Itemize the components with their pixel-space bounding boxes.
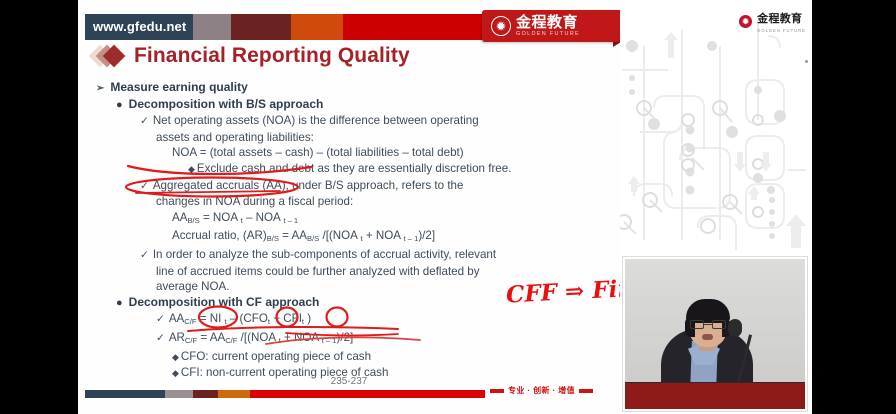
f-b: = AA [279,229,307,242]
brand-logo-banner: ✹ 金程教育 GOLDEN FUTURE [482,10,620,42]
line-cfo-definition: ◆CFO: current operating piece of cash [172,349,608,366]
f-c-sub: t – 1 [283,216,298,225]
f-e: )/2] [418,229,435,242]
line-text: average NOA. [156,280,229,293]
video-frame [625,259,805,409]
slogan-dash-right [579,389,593,393]
f-a: AA [169,312,184,325]
panel-brand-cn: 金程教育 [757,13,802,25]
lecturer-mouth [702,334,713,340]
f-e: ) [304,312,311,325]
f-d-sub: t – 1 [404,234,419,243]
f-e: )/2] [337,331,354,344]
dot-bullet-icon: ● [116,297,123,309]
line-noa-definition-2: assets and operating liabilities: [156,130,608,146]
footer-segment-gray [165,390,193,398]
line-text: CFO: current operating piece of cash [181,350,371,363]
circuit-pattern-icon [620,0,812,250]
slide-area: www.gfedu.net ✹ 金程教育 GOLDEN FUTURE Finan… [78,0,620,414]
decorative-circuit-background [620,0,812,250]
brand-name-en: GOLDEN FUTURE [516,32,580,38]
f-a-sub: B/S [267,234,279,243]
header-segment-gray [193,14,231,40]
header-segment-orange [291,14,343,40]
f-a: AR [169,331,185,344]
check-bullet-icon: ✓ [156,313,165,325]
line-text: Decomposition with B/S approach [129,97,324,111]
f-d: + NOA [281,331,322,344]
check-bullet-icon: ✓ [140,115,149,127]
dot-bullet-icon: ● [116,99,123,111]
line-text: changes in NOA during a fiscal period: [156,195,353,208]
line-text: line of accrued items could be further a… [156,265,480,278]
line-text: Measure earning quality [110,80,247,94]
f-a-sub: C/F [184,317,196,326]
line-exclude-cash-debt: ◆Exclude cash and debt as they are essen… [188,161,608,178]
footer-segment-maroon [193,390,218,398]
f-a: Accrual ratio, (AR) [172,229,267,242]
seal-icon: ✹ [738,14,753,29]
f-a: AA [172,211,187,224]
panel-dot [805,60,808,63]
line-noa-definition-1: ✓Net operating assets (NOA) is the diffe… [140,113,608,130]
f-b-sub: B/S [307,234,319,243]
screen: www.gfedu.net ✹ 金程教育 GOLDEN FUTURE Finan… [0,0,896,414]
line-text: Exclude cash and debt as they are essent… [197,162,512,175]
line-text: Net operating assets (NOA) is the differ… [153,114,479,127]
slogan-text: 专业 · 创新 · 增值 [508,385,575,396]
footer-segment-red [250,390,485,398]
check-bullet-icon: ✓ [156,332,165,344]
f-d-sub: t – 1 [322,336,337,345]
f-b-sub: C/F [225,336,237,345]
f-a-sub: B/S [187,216,199,225]
slide-title-row: Financial Reporting Quality [92,44,410,68]
panel-brand-text: 金程教育 GOLDEN FUTURE [757,9,806,33]
line-subcomponents-2: line of accrued items could be further a… [156,264,608,280]
line-text: Decomposition with CF approach [129,295,320,309]
lecturer-video[interactable] [622,256,808,412]
f-c: /[(NOA [319,229,360,242]
f-a-sub: C/F [185,336,197,345]
line-text: assets and operating liabilities: [156,131,314,144]
site-url-label: www.gfedu.net [85,14,193,40]
formula-aa-cf: ✓AAC/F = NI t – (CFOt + CFIt ) [156,311,608,330]
footer-segment-orange [218,390,250,398]
line-subcomponents-1: ✓In order to analyze the sub-components … [140,247,608,264]
panel-brand-logo: ✹ 金程教育 GOLDEN FUTURE [738,9,806,33]
f-c: – NOA [243,211,284,224]
arrow-bullet-icon: ➢ [96,83,104,94]
check-bullet-icon: ✓ [140,180,149,192]
line-text: In order to analyze the sub-components o… [153,248,496,261]
brand-logo-text: 金程教育 GOLDEN FUTURE [516,15,580,38]
right-panel: ✹ 金程教育 GOLDEN FUTURE [620,0,812,414]
seal-icon: ✹ [491,16,511,36]
f-c: /[(NOA [237,331,278,344]
slogan-dash-left [490,389,504,393]
diamond-bullet-icon: ◆ [188,164,195,174]
f-b: = AA [197,331,225,344]
diamond-bullet-icon: ◆ [172,352,179,362]
microphone-icon [728,319,742,337]
footer-slogan: 专业 · 创新 · 增值 [490,385,593,396]
line-text: Aggregated accruals (AA), under B/S appr… [153,179,464,192]
formula-accrual-ratio-bs: Accrual ratio, (AR)B/S = AAB/S /[(NOA t … [172,228,608,247]
check-bullet-icon: ✓ [140,249,149,261]
line-aggregated-accruals-2: changes in NOA during a fiscal period: [156,194,608,210]
f-c: – (CFO [227,312,268,325]
f-d: + CFI [270,312,302,325]
bullet-decomposition-bs: ●Decomposition with B/S approach [116,97,608,114]
formula-aa-bs: AAB/S = NOA t – NOA t – 1 [172,210,608,229]
f-d: + NOA [363,229,404,242]
formula-noa: NOA = (total assets – cash) – (total lia… [172,145,608,161]
bullet-measure-earning-quality: ➢Measure earning quality [96,80,608,97]
panel-brand-en: GOLDEN FUTURE [757,28,806,33]
line-aggregated-accruals-1: ✓Aggregated accruals (AA), under B/S app… [140,178,608,195]
header-segment-maroon [231,14,291,40]
lecturer-glasses [690,320,726,329]
right-letterbox [812,0,896,414]
brand-name-cn: 金程教育 [516,15,580,30]
line-text: NOA = (total assets – cash) – (total lia… [172,146,464,159]
podium [625,383,805,409]
f-b: = NI [197,312,225,325]
slide-body: ➢Measure earning quality ●Decomposition … [92,80,608,382]
footer-strip [85,390,485,398]
page-title: Financial Reporting Quality [134,44,410,68]
f-b: = NOA [200,211,241,224]
left-letterbox [0,0,78,414]
diamond-icon [92,45,126,67]
formula-ar-cf: ✓ARC/F = AAC/F /[(NOA t + NOA t – 1)/2] [156,330,608,349]
footer-segment-blue [85,390,165,398]
